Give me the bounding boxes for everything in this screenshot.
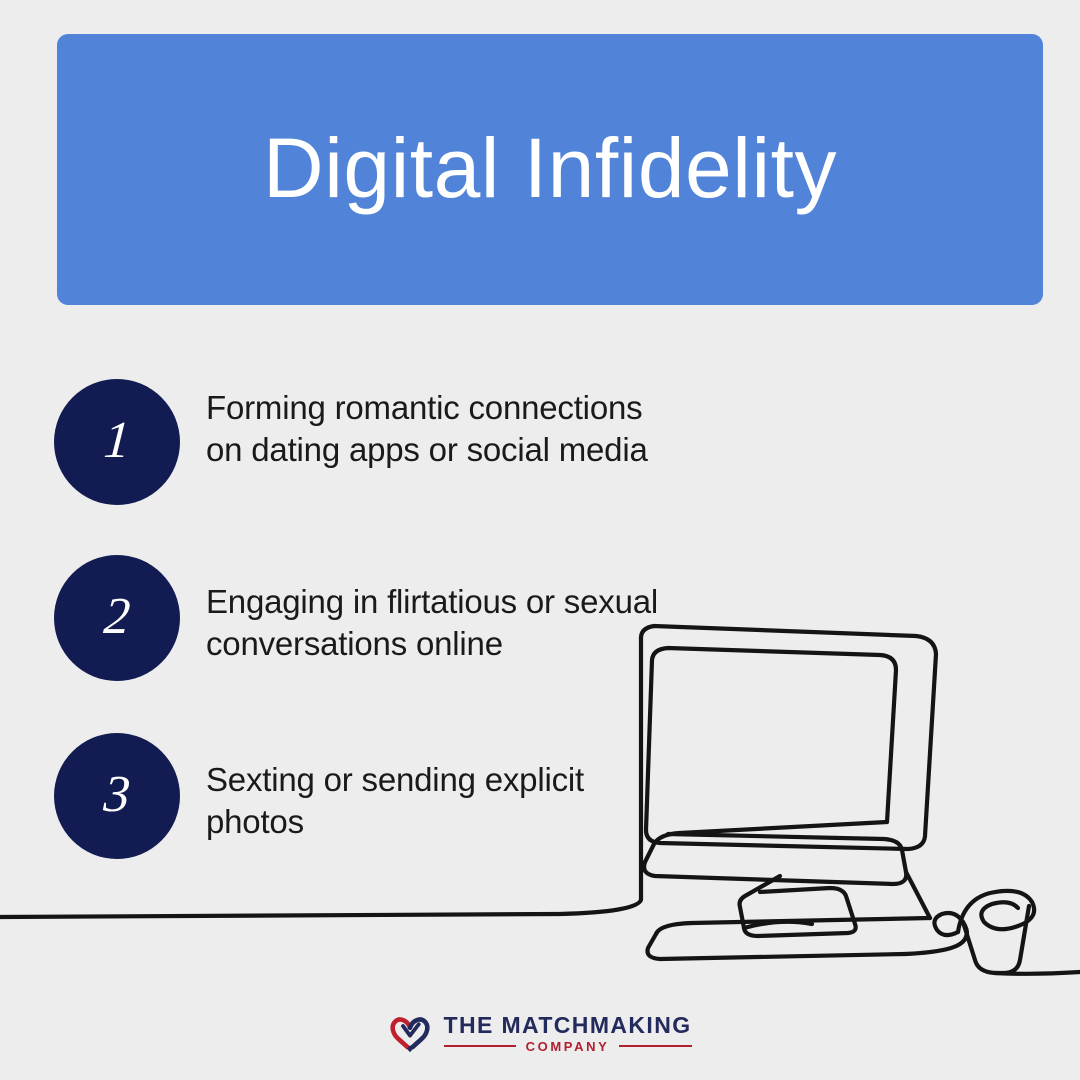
badge-number: 3	[102, 769, 132, 821]
logo-line-2-row: COMPANY	[444, 1040, 692, 1053]
poster-canvas: Digital Infidelity 1 Forming romantic co…	[0, 0, 1080, 1080]
list-item-badge-1: 1	[54, 379, 180, 505]
numbered-list: 1 Forming romantic connections on dating…	[54, 379, 774, 859]
logo-line-1: THE MATCHMAKING	[444, 1014, 692, 1037]
brand-logo: THE MATCHMAKING COMPANY	[0, 1004, 1080, 1062]
list-item: 3 Sexting or sending explicit photos	[54, 733, 774, 859]
list-item: 1 Forming romantic connections on dating…	[54, 379, 774, 505]
list-item-badge-3: 3	[54, 733, 180, 859]
badge-number: 2	[102, 591, 132, 643]
title-banner: Digital Infidelity	[57, 34, 1043, 305]
list-item-text: Engaging in flirtatious or sexual conver…	[206, 555, 676, 665]
logo-wordmark: THE MATCHMAKING COMPANY	[444, 1014, 692, 1053]
list-item-text: Sexting or sending explicit photos	[206, 733, 676, 843]
logo-line-2: COMPANY	[526, 1040, 610, 1053]
heart-check-logo-icon	[389, 1012, 431, 1054]
list-item-badge-2: 2	[54, 555, 180, 681]
logo-rule-right	[619, 1045, 691, 1047]
logo-rule-left	[444, 1045, 516, 1047]
list-item: 2 Engaging in flirtatious or sexual conv…	[54, 555, 774, 681]
page-title: Digital Infidelity	[263, 126, 837, 210]
list-item-text: Forming romantic connections on dating a…	[206, 379, 676, 471]
badge-number: 1	[102, 415, 132, 467]
